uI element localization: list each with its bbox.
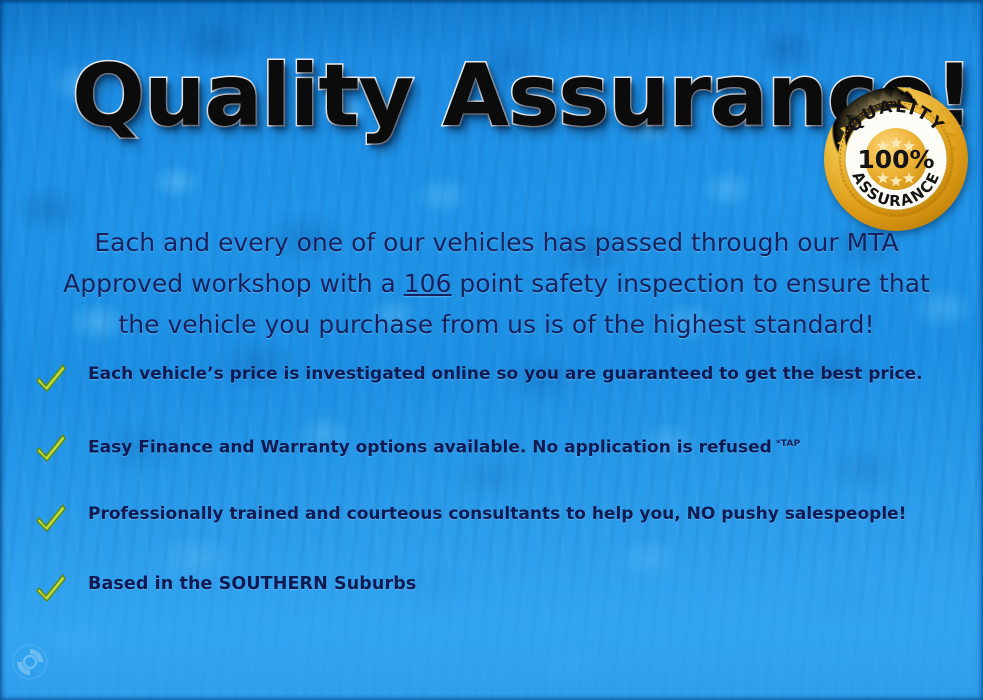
intro-paragraph: Each and every one of our vehicles has p…	[46, 222, 947, 345]
title-row: Quality Assurance!	[0, 44, 983, 164]
list-item-label: Each vehicle’s price is investigated onl…	[88, 356, 923, 387]
intro-inspection-points: 106	[404, 269, 452, 298]
intro-line-3: from us is of the highest standard!	[441, 310, 874, 339]
list-item-label: Easy Finance and Warranty options availa…	[88, 426, 800, 461]
quality-assurance-seal-icon: QUALITY ASSURANCE 100%	[821, 84, 971, 234]
list-item: Professionally trained and courteous con…	[34, 496, 953, 566]
green-check-icon	[34, 430, 68, 464]
list-item-text: Easy Finance and Warranty options availa…	[88, 438, 772, 458]
green-check-icon	[34, 500, 68, 534]
refresh-circle-icon	[10, 642, 50, 682]
list-item: Easy Finance and Warranty options availa…	[34, 426, 953, 496]
benefits-checklist: Each vehicle’s price is investigated onl…	[34, 356, 953, 636]
green-check-icon	[34, 570, 68, 604]
list-item-label: Professionally trained and courteous con…	[88, 496, 906, 527]
list-item-label: Based in the SOUTHERN Suburbs	[88, 566, 416, 597]
list-item: Each vehicle’s price is investigated onl…	[34, 356, 953, 426]
list-item: Based in the SOUTHERN Suburbs	[34, 566, 953, 636]
list-item-footnote-marker: *TAP	[776, 439, 801, 449]
intro-line-2-before: workshop with a	[191, 269, 404, 298]
quality-assurance-poster: Quality Assurance!	[0, 0, 983, 700]
seal-center-text: 100%	[857, 145, 934, 174]
green-check-icon	[34, 360, 68, 394]
